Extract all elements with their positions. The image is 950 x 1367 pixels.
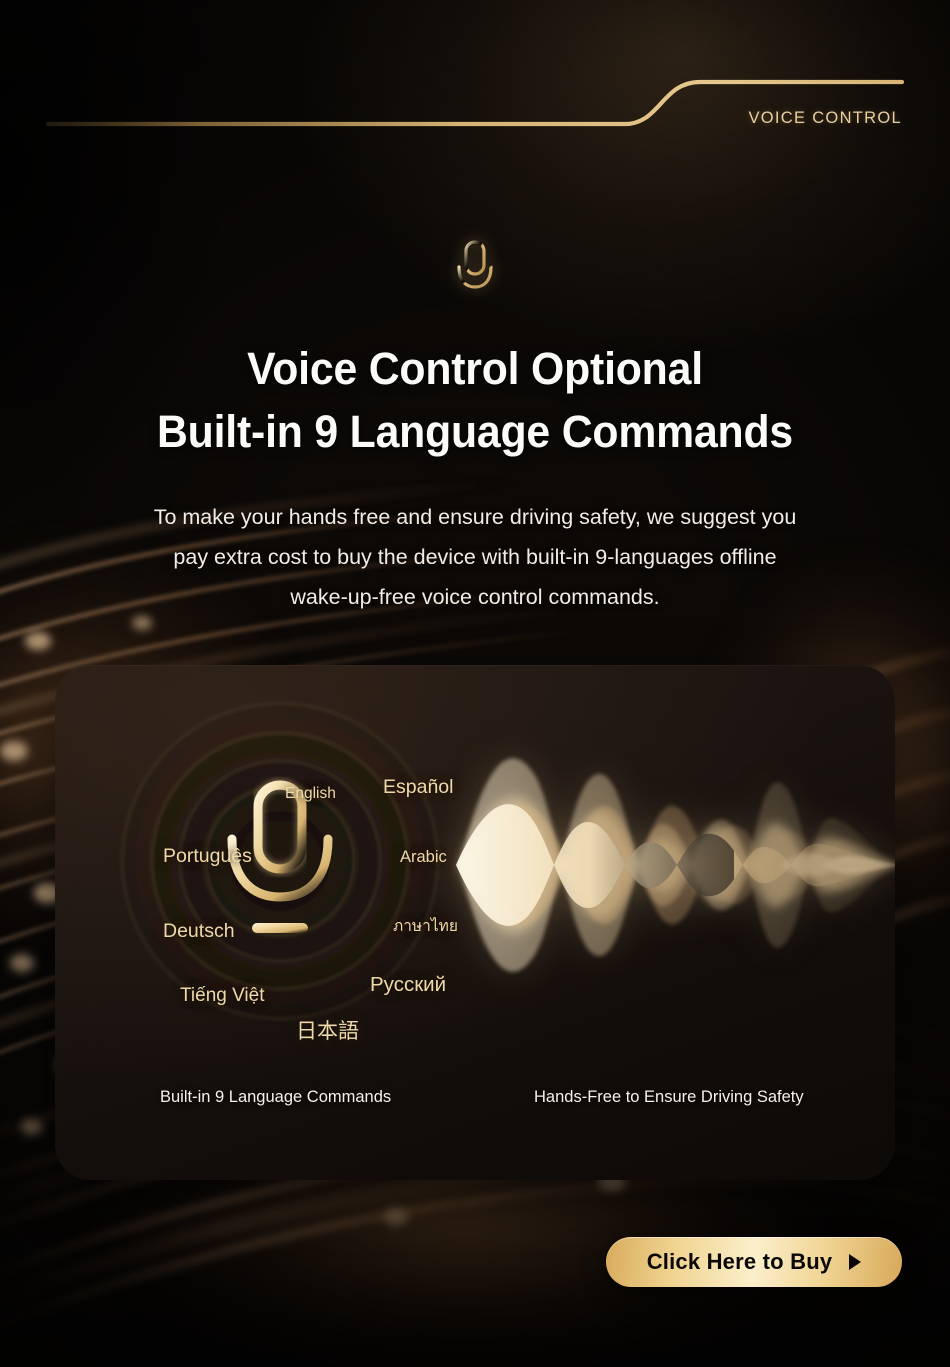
feature-card: English Español Português Arabic Deutsch… [55,665,895,1180]
language-label-thai: ภาษาไทย [393,913,458,938]
language-label-russian: Русский [370,973,446,997]
caption-hands-free: Hands-Free to Ensure Driving Safety [534,1088,804,1107]
page-title: Voice Control Optional Built-in 9 Langua… [24,337,927,463]
subtitle-line-3: wake-up-free voice control commands. [95,577,855,617]
subtitle-line-2: pay extra cost to buy the device with bu… [95,537,855,577]
language-label-portugues: Português [163,845,252,868]
waveform-icon [450,720,895,1010]
click-here-to-buy-button[interactable]: Click Here to Buy [606,1237,902,1287]
language-label-vietnamese: Tiếng Việt [180,985,265,1007]
triangle-right-icon [849,1254,861,1270]
language-label-english: English [285,785,336,803]
language-label-japanese: 日本語 [296,1015,359,1045]
caption-languages: Built-in 9 Language Commands [160,1088,391,1107]
hero-microphone [0,238,950,309]
title-line-1: Voice Control Optional [24,337,927,400]
sound-waveform [450,720,895,1010]
page-subtitle: To make your hands free and ensure drivi… [95,497,855,617]
header-rule-icon [0,0,950,175]
cta-label: Click Here to Buy [647,1249,833,1275]
language-label-arabic: Arabic [400,848,447,867]
page-canvas: VOICE CONTROL Voice Control Optional Bui… [0,0,950,1367]
language-ring-diagram: English Español Português Arabic Deutsch… [80,695,480,1025]
header-label: VOICE CONTROL [748,109,902,128]
language-label-espanol: Español [383,776,453,799]
title-line-2: Built-in 9 Language Commands [24,400,927,463]
subtitle-line-1: To make your hands free and ensure drivi… [95,497,855,537]
language-label-deutsch: Deutsch [163,920,235,943]
microphone-icon [448,238,502,304]
page-header: VOICE CONTROL [0,0,950,175]
